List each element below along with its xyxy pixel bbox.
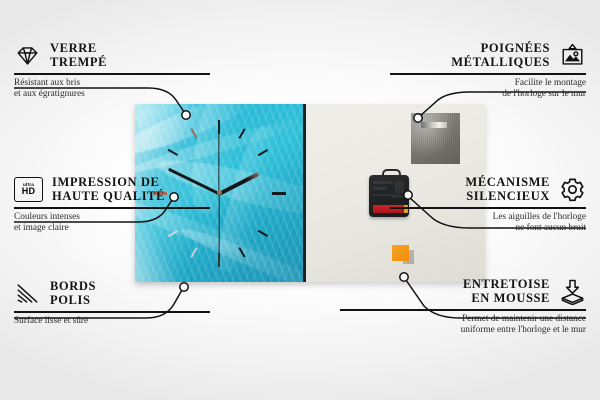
foam-spacer-arrow-icon bbox=[559, 278, 586, 305]
feature-title: ENTRETOISE EN MOUSSE bbox=[463, 278, 550, 305]
feature-header: MÉCANISME SILENCIEUX bbox=[390, 176, 586, 203]
feature-header: VERRE TREMPÉ bbox=[14, 42, 210, 69]
feature-entretoise-en-mousse: ENTRETOISE EN MOUSSE Permet de maintenir… bbox=[340, 278, 586, 336]
feature-header: BORDS POLIS bbox=[14, 280, 210, 307]
hanger-slot bbox=[421, 122, 447, 128]
clock-tick bbox=[190, 247, 197, 257]
feature-mecanisme-silencieux: MÉCANISME SILENCIEUX Les aiguilles de l'… bbox=[390, 176, 586, 234]
feature-description: Facilite le montage de l'horloge sur le … bbox=[390, 78, 586, 101]
feature-poignees-metalliques: POIGNÉES MÉTALLIQUES Facilite le montage… bbox=[390, 42, 586, 100]
feature-title: MÉCANISME SILENCIEUX bbox=[465, 176, 550, 203]
clock-tick bbox=[218, 120, 220, 134]
feature-description: Couleurs intenses et image claire bbox=[14, 212, 210, 235]
diamond-icon bbox=[14, 42, 41, 69]
feature-rule bbox=[340, 309, 586, 311]
feature-rule bbox=[390, 207, 586, 209]
picture-frame-hanger-icon bbox=[559, 42, 586, 69]
feature-rule bbox=[390, 73, 586, 75]
clock-second-hand bbox=[218, 194, 219, 258]
gear-icon bbox=[559, 176, 586, 203]
feature-rule bbox=[14, 207, 210, 209]
feature-header: ENTRETOISE EN MOUSSE bbox=[340, 278, 586, 305]
feature-description: Permet de maintenir une distance uniform… bbox=[340, 314, 586, 337]
ultra-hd-icon: ultra HD bbox=[14, 177, 43, 202]
feature-description: Résistant aux bris et aux égratignures bbox=[14, 78, 210, 101]
feature-description: Surface lisse et sûre bbox=[14, 316, 210, 327]
feature-description: Les aiguilles de l'horloge ne font aucun… bbox=[390, 212, 586, 235]
metal-hanger-plate bbox=[411, 113, 460, 164]
ultra-hd-icon-bottom: HD bbox=[22, 187, 35, 196]
foam-spacer bbox=[392, 245, 409, 261]
feature-header: POIGNÉES MÉTALLIQUES bbox=[390, 42, 586, 69]
clock-tick bbox=[258, 230, 268, 237]
feature-impression-haute-qualite: ultra HD IMPRESSION DE HAUTE QUALITÉ Cou… bbox=[14, 176, 210, 234]
feature-title: POIGNÉES MÉTALLIQUES bbox=[451, 42, 550, 69]
polished-edges-icon bbox=[14, 280, 41, 307]
feature-title: BORDS POLIS bbox=[50, 280, 96, 307]
feature-rule bbox=[14, 311, 210, 313]
feature-rule bbox=[14, 73, 210, 75]
clock-tick bbox=[272, 192, 286, 195]
clock-center-pin bbox=[217, 190, 222, 195]
feature-header: ultra HD IMPRESSION DE HAUTE QUALITÉ bbox=[14, 176, 210, 203]
feature-title: VERRE TREMPÉ bbox=[50, 42, 107, 69]
feature-title: IMPRESSION DE HAUTE QUALITÉ bbox=[52, 176, 165, 203]
feature-verre-trempe: VERRE TREMPÉ Résistant aux bris et aux é… bbox=[14, 42, 210, 100]
infographic-page: + bbox=[0, 0, 600, 400]
feature-bords-polis: BORDS POLIS Surface lisse et sûre bbox=[14, 280, 210, 327]
